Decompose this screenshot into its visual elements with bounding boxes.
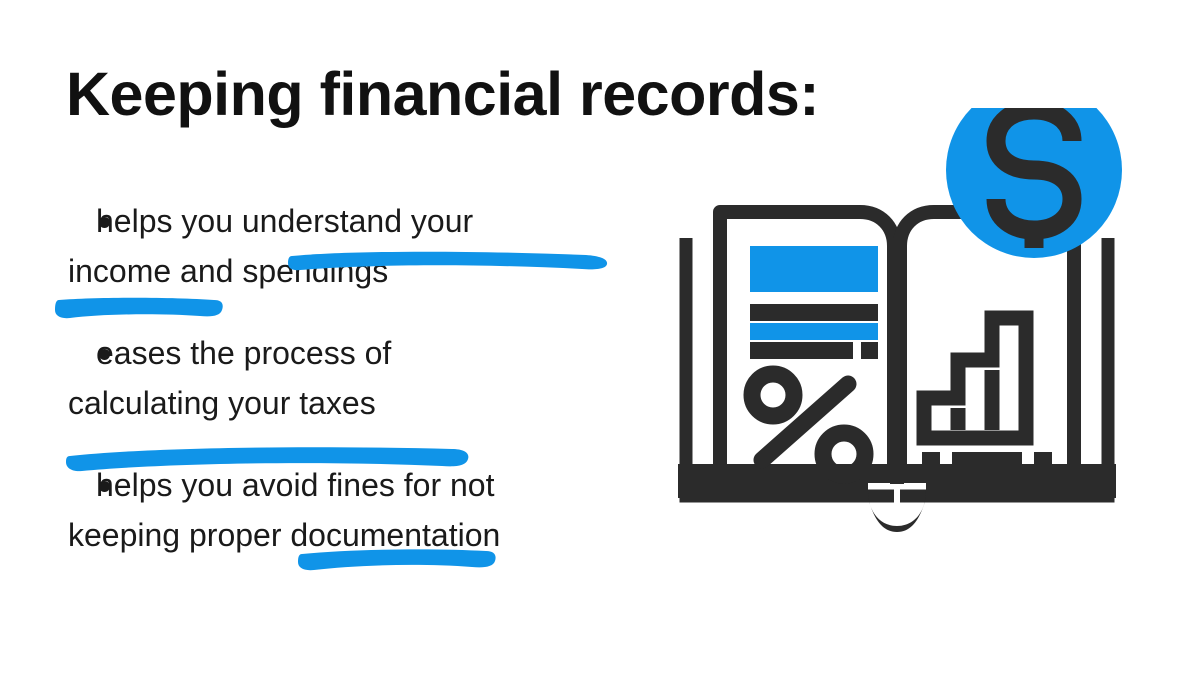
bullet-line-secondary: income and spendings <box>0 246 640 296</box>
list-item: helps you understand your income and spe… <box>0 196 640 296</box>
slide-canvas: Keeping financial records: helps you und… <box>0 0 1200 700</box>
document-header-band <box>750 246 878 292</box>
book-spine-icon <box>890 238 904 484</box>
bullet-line-secondary: calculating your taxes <box>0 378 640 428</box>
book-bottom-cover-icon <box>678 464 1116 532</box>
document-line-1 <box>750 304 878 321</box>
document-line-2 <box>750 323 878 340</box>
bullet-list: helps you understand your income and spe… <box>0 196 640 592</box>
bullet-line-primary: eases the process of <box>0 328 640 378</box>
list-item: eases the process of calculating your ta… <box>0 328 640 428</box>
document-line-3-tail <box>861 342 878 359</box>
list-item: helps you avoid fines for not keeping pr… <box>0 460 640 560</box>
bullet-line-primary: helps you understand your <box>0 196 640 246</box>
bullet-line-primary: helps you avoid fines for not <box>0 460 640 510</box>
document-line-3 <box>750 342 853 359</box>
bullet-line-secondary: keeping proper documentation <box>0 510 640 560</box>
open-accounting-book-with-dollar-coin-illustration <box>672 108 1122 533</box>
